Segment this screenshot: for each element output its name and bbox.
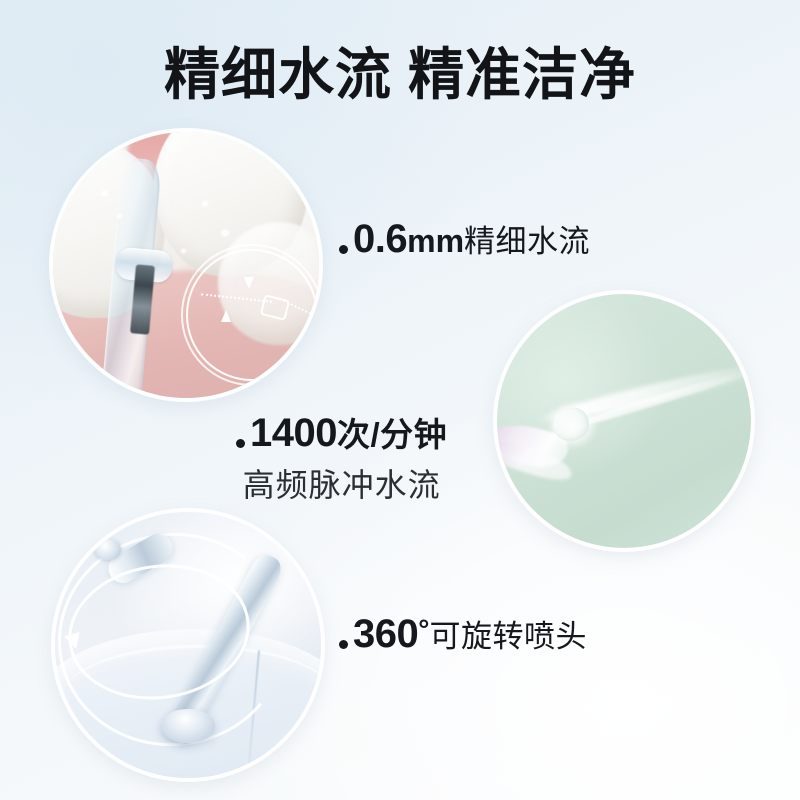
feature-value: 360 [353, 612, 418, 656]
page-title-part-2: 精准洁净 [408, 43, 636, 106]
water-jet-inner [497, 294, 751, 548]
feature-unit: 次/分钟 [337, 416, 447, 453]
magnifier-inset [186, 249, 318, 381]
page-title-part-1: 精细水流 [164, 43, 392, 106]
water-droplet [181, 249, 186, 253]
nozzle-tip-icon [260, 294, 290, 320]
feature-unit: ° [418, 614, 429, 645]
bullet-dot-icon [339, 245, 348, 254]
nozzle-highlight [548, 401, 599, 452]
jet-background [497, 294, 751, 548]
feature-subtitle: 高频脉冲水流 [236, 460, 447, 506]
product-feature-poster: 精细水流精准洁净 [0, 0, 800, 800]
water-jet-image [497, 294, 751, 548]
teeth-closeup-image [53, 132, 319, 398]
spray-path-dotted-icon [279, 298, 319, 319]
feature-label: 可旋转喷头 [429, 619, 587, 654]
bullet-dot-icon [236, 439, 245, 448]
feature-rotating-nozzle: 360°可旋转喷头 [339, 611, 587, 657]
rotating-nozzle-image [55, 512, 321, 778]
rotating-nozzle-inner [55, 512, 321, 778]
metal-nozzle-base [161, 709, 214, 744]
arrow-up-icon [221, 310, 231, 322]
bullet-dot-icon [339, 640, 348, 649]
feature-value: 1400 [250, 411, 337, 455]
teeth-closeup-inner [53, 132, 319, 398]
feature-unit: mm [407, 223, 464, 259]
gap-dotted-line-icon [201, 293, 272, 302]
feature-value: 0.6 [353, 217, 407, 261]
arrow-down-icon [244, 277, 254, 289]
metal-nozzle-head [95, 539, 122, 560]
feature-label: 精细水流 [464, 224, 590, 259]
page-title: 精细水流精准洁净 [0, 44, 800, 106]
water-droplet [101, 191, 108, 196]
feature-high-frequency-pulse: 1400次/分钟 高频脉冲水流 [236, 408, 447, 506]
feature-fine-water-flow: 0.6mm精细水流 [339, 216, 590, 262]
